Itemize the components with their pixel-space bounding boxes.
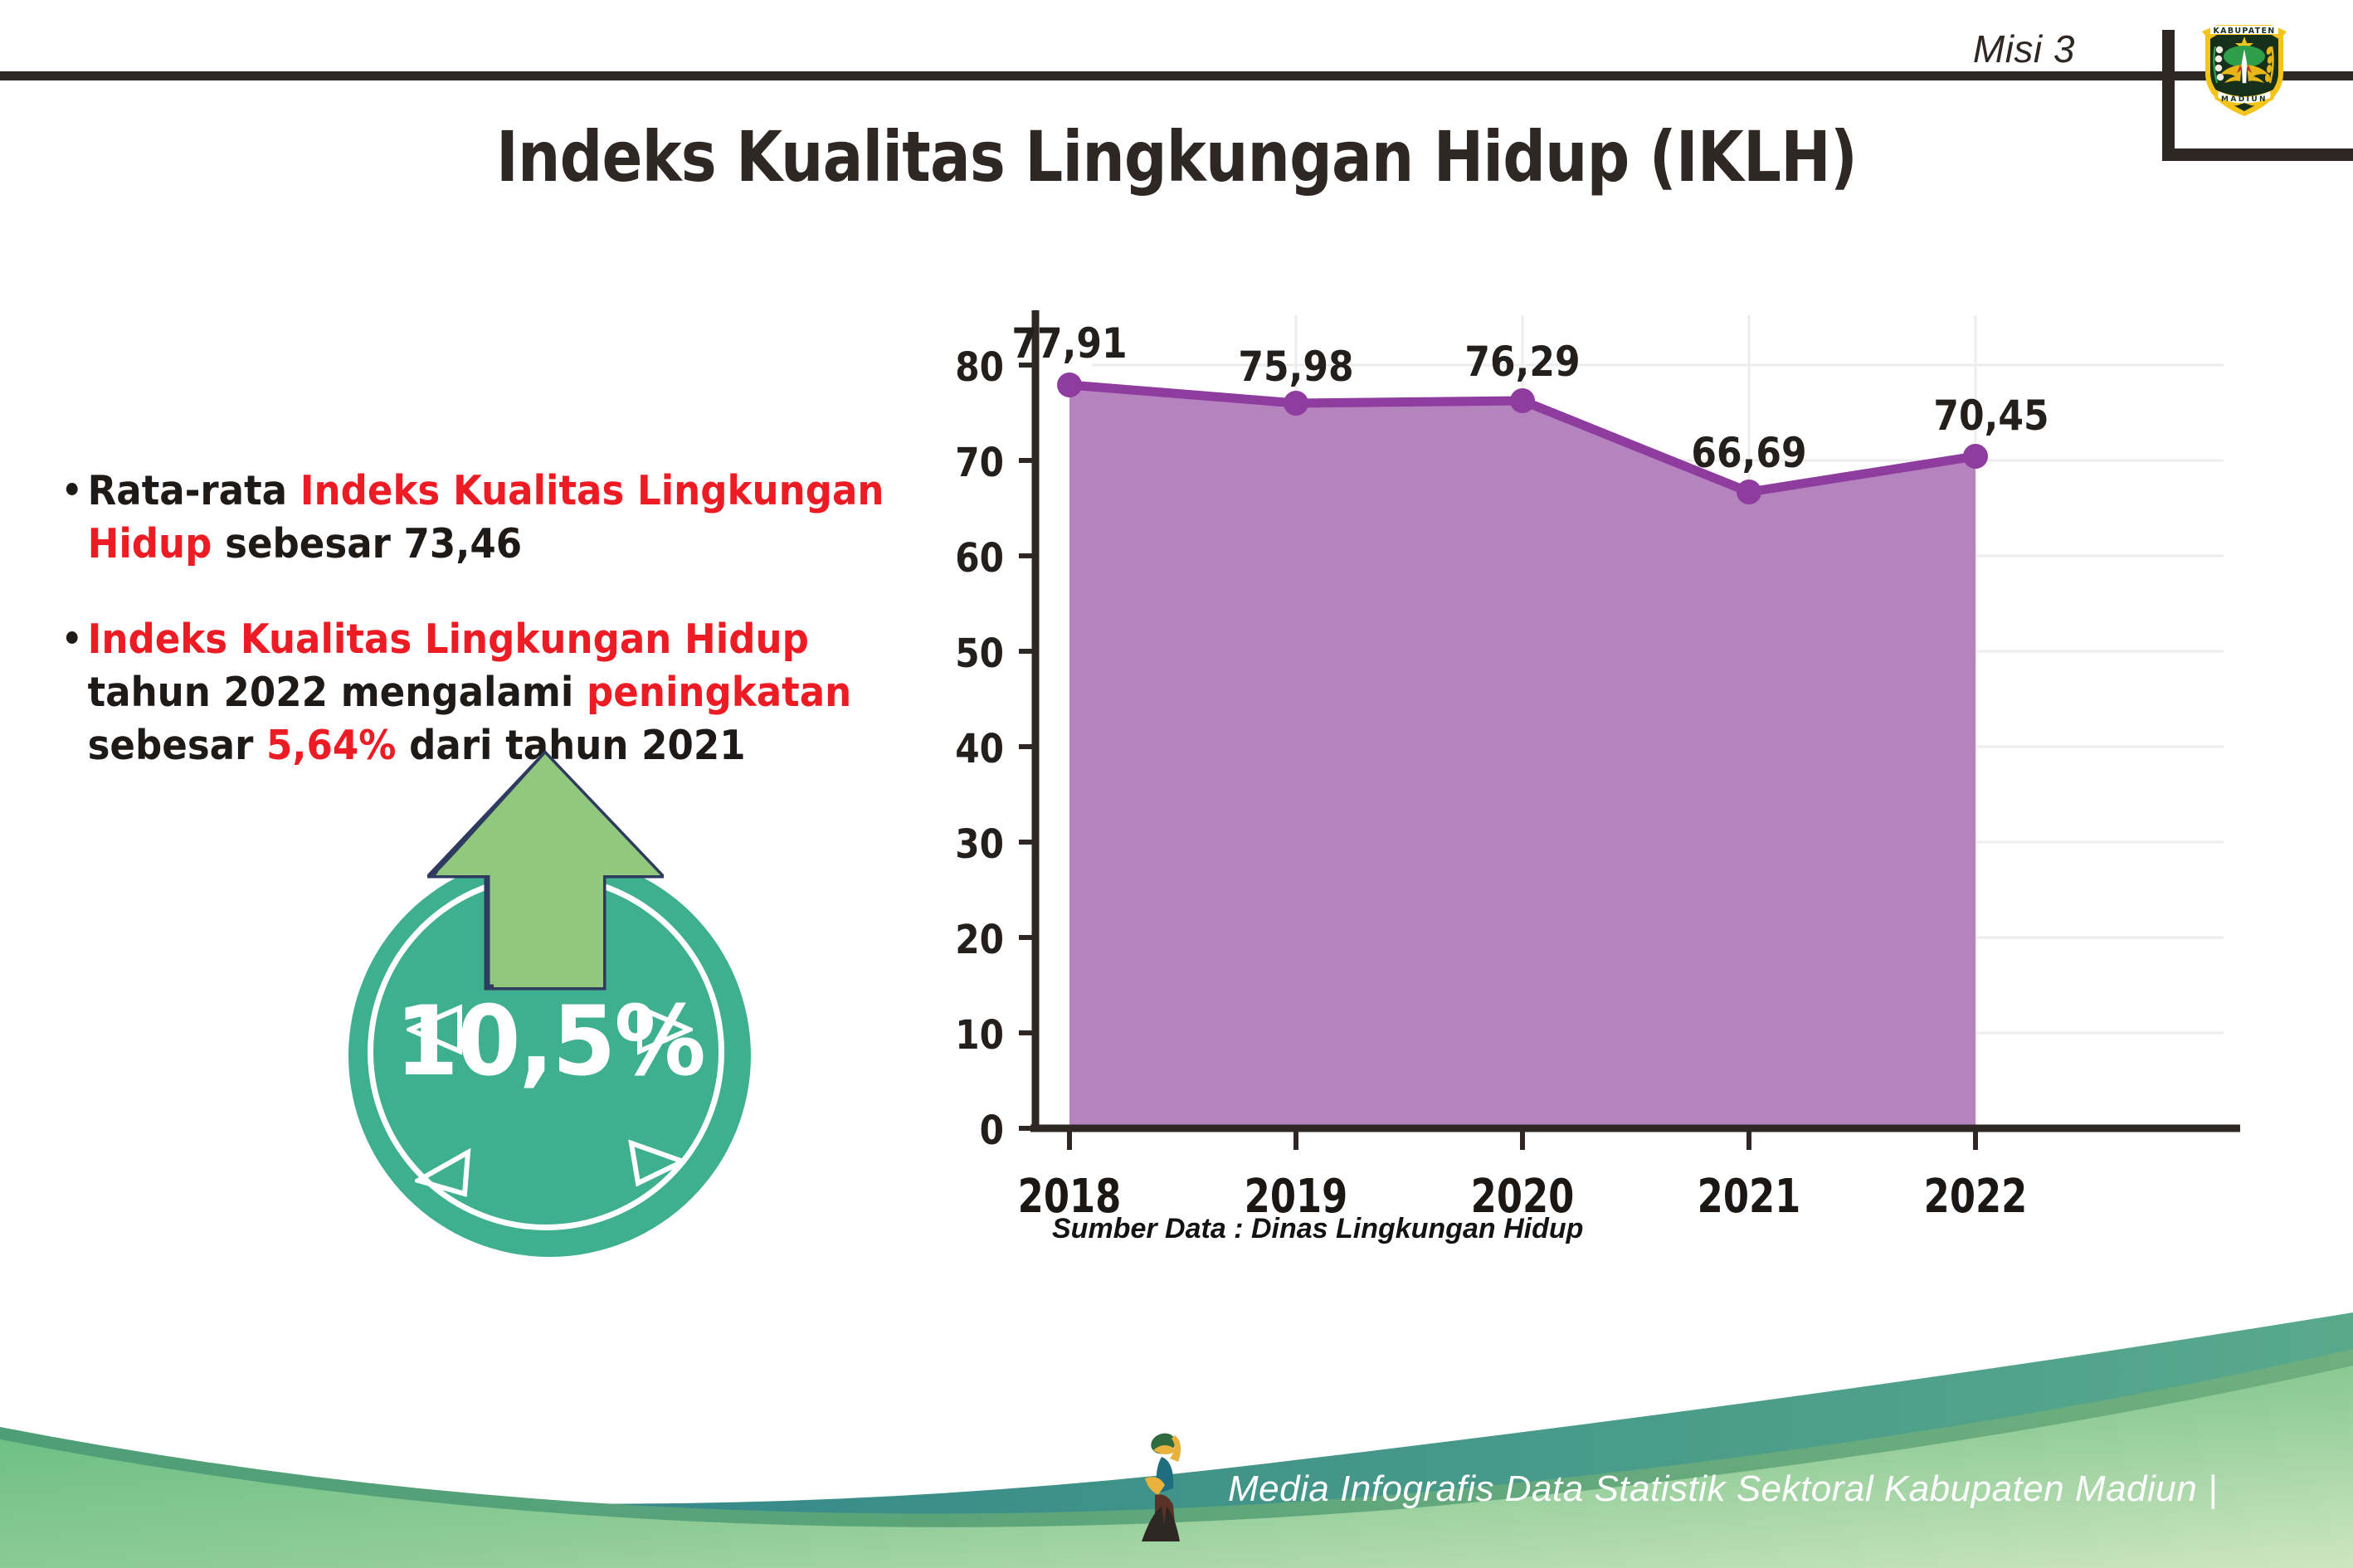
y-tick-label: 30: [923, 821, 1004, 868]
y-tick-label: 10: [923, 1012, 1004, 1059]
data-label-2021: 66,69: [1654, 429, 1844, 477]
kabupaten-madiun-crest-icon: KABUPATEN MADIUN: [2199, 13, 2290, 118]
y-tick-label: 40: [923, 726, 1004, 772]
data-label-2019: 75,98: [1201, 343, 1391, 391]
bracket-horizontal-bar: [2162, 149, 2353, 161]
badge-triangle-marker-bottom-left: [415, 1141, 475, 1200]
bullet-part: sebesar 73,46: [212, 520, 522, 567]
badge-value: 10,5%: [358, 986, 741, 1098]
header-divider: [0, 71, 2353, 80]
page-title: Indeks Kualitas Lingkungan Hidup (IKLH): [165, 116, 2189, 197]
iklh-area-chart: 0 10 20 30 40 50 60 70 80 2018 2019 2020…: [979, 299, 2240, 1178]
bullet-part: sebesar: [88, 722, 266, 769]
svg-text:MADIUN: MADIUN: [2221, 95, 2268, 104]
misi-label: Misi 3: [1973, 27, 2075, 71]
y-tick-label: 20: [923, 917, 1004, 963]
badge-triangle-marker-bottom-right: [626, 1128, 686, 1188]
bullet-part-highlight: Indeks Kualitas Lingkungan Hidup: [88, 616, 809, 663]
slide-canvas: Misi 3 KABUPATEN: [0, 0, 2353, 1568]
bullet-part: Rata-rata: [88, 467, 300, 514]
data-label-2018: 77,91: [975, 319, 1165, 368]
source-note: Sumber Data : Dinas Lingkungan Hidup: [1052, 1213, 1583, 1245]
footer-caption: Media Infografis Data Statistik Sektoral…: [1228, 1468, 2218, 1510]
x-tick-label-2022: 2022: [1899, 1170, 2052, 1224]
y-tick-label: 60: [923, 535, 1004, 582]
increase-badge: 10,5%: [328, 751, 759, 1215]
chart-area-fill: [1069, 385, 1975, 1128]
y-tick-label: 50: [923, 631, 1004, 677]
statistik-figure-logo-icon: [1137, 1425, 1220, 1550]
y-tick-label: 70: [923, 440, 1004, 486]
y-tick-label: 0: [923, 1108, 1004, 1154]
bullet-part-highlight: peningkatan: [587, 669, 851, 716]
arrow-up-icon: [427, 751, 664, 991]
svg-text:KABUPATEN: KABUPATEN: [2214, 27, 2276, 36]
bullet-item-average: Rata-rata Indeks Kualitas Lingkungan Hid…: [65, 465, 897, 570]
x-tick-label-2021: 2021: [1673, 1170, 1825, 1224]
data-label-2022: 70,45: [1897, 392, 2087, 440]
bullet-item-increase: Indeks Kualitas Lingkungan Hidup tahun 2…: [65, 613, 897, 772]
bullet-part: tahun 2022 mengalami: [88, 669, 587, 716]
data-label-2020: 76,29: [1428, 338, 1618, 386]
